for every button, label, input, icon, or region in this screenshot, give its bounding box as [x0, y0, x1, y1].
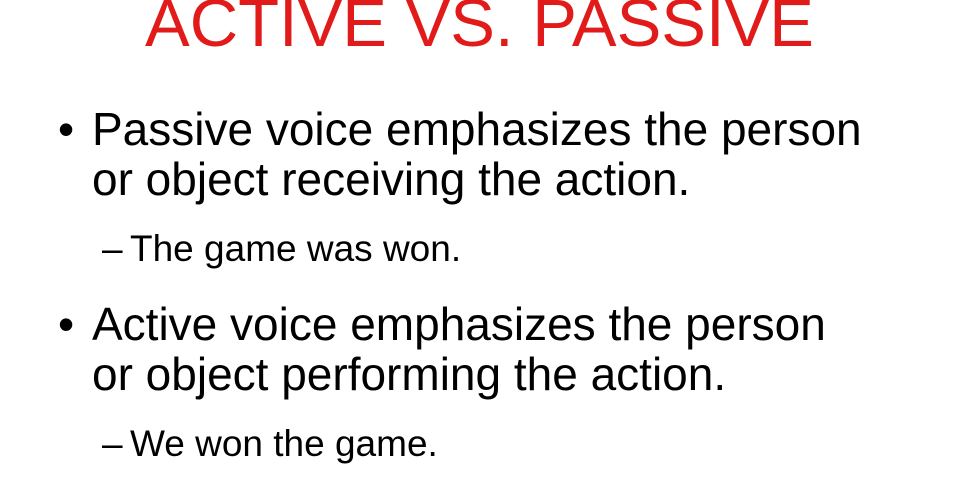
slide-title: ACTIVE VS. PASSIVE — [0, 0, 959, 59]
bullet-text-active-example: We won the game. — [130, 424, 899, 464]
bullet-text-passive-voice: Passive voice emphasizes the person or o… — [92, 104, 864, 204]
bullet-item-passive-example: – The game was won. — [0, 229, 959, 269]
dash-bullet-icon: – — [102, 424, 128, 464]
bullet-text-active-voice: Active voice emphasizes the person or ob… — [92, 299, 864, 399]
bullet-item-active-example: – We won the game. — [0, 424, 959, 464]
spacer-3 — [0, 399, 959, 424]
bullet-item-passive-voice: • Passive voice emphasizes the person or… — [0, 104, 959, 204]
bullet-text-passive-example: The game was won. — [130, 229, 899, 269]
round-bullet-icon: • — [58, 104, 82, 154]
bullet-item-active-voice: • Active voice emphasizes the person or … — [0, 299, 959, 399]
spacer-1 — [0, 204, 959, 229]
round-bullet-icon: • — [58, 299, 82, 349]
slide-body-bullet-list: • Passive voice emphasizes the person or… — [0, 104, 959, 464]
spacer-2 — [0, 269, 959, 299]
presentation-slide: ACTIVE VS. PASSIVE • Passive voice empha… — [0, 0, 959, 503]
dash-bullet-icon: – — [102, 229, 128, 269]
